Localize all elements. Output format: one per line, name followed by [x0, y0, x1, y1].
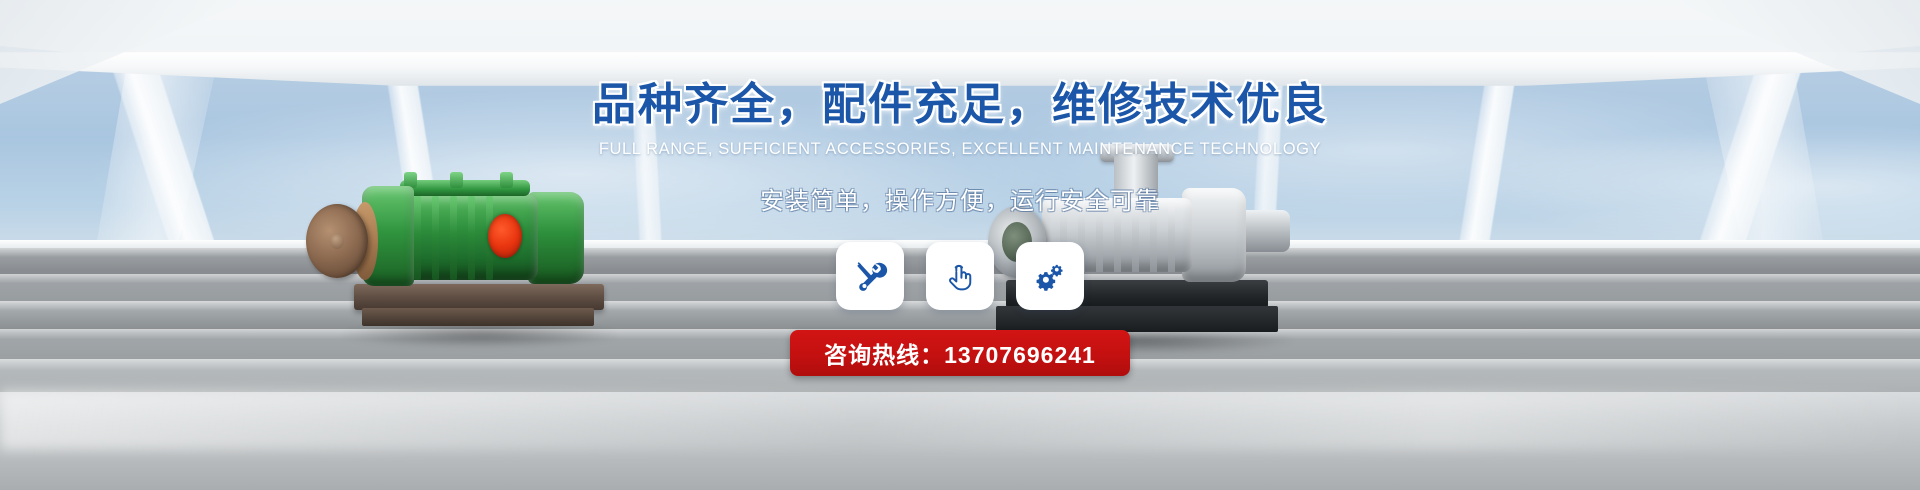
banner-content: 品种齐全，配件充足，维修技术优良 FULL RANGE, SUFFICIENT … — [0, 0, 1920, 490]
banner-headline: 品种齐全，配件充足，维修技术优良 — [592, 68, 1328, 132]
banner-subtitle-english: FULL RANGE, SUFFICIENT ACCESSORIES, EXCE… — [599, 140, 1321, 159]
hand-pointer-icon — [942, 258, 978, 294]
feature-tile-reliable-running[interactable] — [1016, 242, 1084, 310]
feature-tile-easy-operation[interactable] — [926, 242, 994, 310]
feature-tile-maintenance[interactable] — [836, 242, 904, 310]
gears-icon — [1032, 258, 1068, 294]
feature-icon-row — [836, 242, 1084, 310]
promo-banner: 品种齐全，配件充足，维修技术优良 FULL RANGE, SUFFICIENT … — [0, 0, 1920, 490]
hotline-badge[interactable]: 咨询热线：13707696241 — [790, 330, 1130, 376]
banner-subtitle-chinese: 安装简单，操作方便，运行安全可靠 — [760, 181, 1160, 216]
tools-icon — [852, 258, 888, 294]
